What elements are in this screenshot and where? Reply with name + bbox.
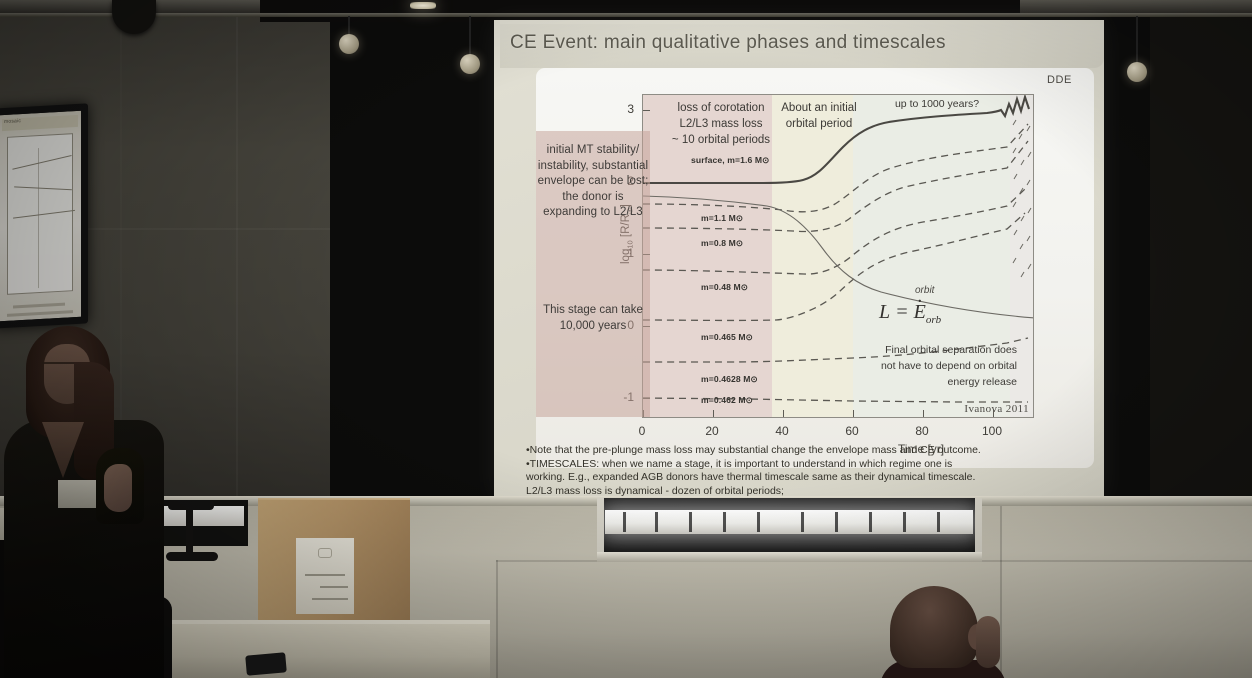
x-tick-label: 100 (982, 424, 1002, 438)
window-sill (597, 552, 982, 562)
x-tick-label: 20 (705, 424, 718, 438)
sign-logo-icon (318, 548, 332, 558)
bullet-3: working. E.g., expanded AGB donors have … (526, 471, 1098, 485)
curve-label-m11: m=1.1 M⊙ (701, 213, 743, 224)
y-tick (643, 110, 650, 111)
side-note-text-1: initial MT stability/ instability, subst… (536, 143, 650, 221)
annotation-final-sep-2: not have to depend on orbital (849, 359, 1017, 373)
y-tick-label: 3 (614, 102, 634, 116)
pendant-cord (1136, 16, 1138, 66)
curve-label-m08: m=0.8 M⊙ (701, 238, 743, 249)
annotation-final-sep-1: Final orbital separation does (853, 343, 1017, 357)
x-tick (713, 410, 714, 417)
annotation-loss-corotation-3: ~ 10 orbital periods (657, 133, 785, 148)
audience-member (880, 586, 1010, 678)
side-note-panel: initial MT stability/ instability, subst… (536, 131, 650, 417)
bullet-1: •Note that the pre-plunge mass loss may … (526, 444, 1098, 458)
wall-seam (236, 0, 238, 500)
aux-plot (7, 133, 73, 295)
presenter-hand (104, 464, 132, 512)
aux-curve (8, 134, 72, 294)
presenter-name-badge (58, 480, 98, 508)
curve-label-m04628: m=0.4628 M⊙ (701, 374, 758, 385)
lecture-room-scene: mosaic CE Event: main qualitative phases… (0, 0, 1252, 678)
pendant-light-icon (460, 54, 480, 74)
x-tick-label: 80 (915, 424, 928, 438)
stool-base (166, 552, 218, 561)
phone-on-table (245, 652, 287, 675)
chart-plot-area: surface, m=1.6 M⊙ m=1.1 M⊙ m=0.8 M⊙ m=0.… (642, 94, 1034, 418)
secondary-display-content: mosaic (0, 111, 81, 322)
x-tick-label: 40 (775, 424, 788, 438)
x-tick-label: 60 (845, 424, 858, 438)
chart-inner: surface, m=1.6 M⊙ m=1.1 M⊙ m=0.8 M⊙ m=0.… (643, 95, 1033, 417)
cabinet-seam (496, 560, 498, 678)
aux-caption (13, 303, 65, 309)
ceiling-track (0, 13, 1252, 17)
window-behind-screen (597, 498, 982, 558)
curve-m-048 (643, 189, 1025, 274)
curve-label-m048: m=0.48 M⊙ (701, 282, 748, 293)
pendant-light-icon (339, 34, 359, 54)
chart-credit: Ivanova 2011 (964, 403, 1029, 415)
pendant-light-icon (1127, 62, 1147, 82)
ceiling-recess (260, 0, 1020, 22)
side-note-text-2: This stage can take 10,000 years (536, 303, 650, 334)
curve-m-0465 (643, 213, 1025, 320)
dde-corner-label: DDE (1047, 74, 1072, 86)
annotation-final-sep-3: energy release (849, 375, 1017, 389)
audience-hand (976, 616, 1000, 668)
x-tick (993, 410, 994, 417)
annotation-spiral-in-2: up to 1000 years? (869, 97, 1005, 111)
aux-caption (7, 310, 73, 317)
annotation-plunge-in-2: About an initial (765, 101, 873, 116)
x-tick (923, 410, 924, 417)
curve-label-m0465: m=0.465 M⊙ (701, 332, 753, 343)
projected-slide: CE Event: main qualitative phases and ti… (494, 20, 1104, 498)
ceiling-light-icon (410, 2, 436, 9)
window-frame (597, 498, 604, 558)
audience-head (890, 586, 978, 668)
slide-bullets: •Note that the pre-plunge mass loss may … (526, 444, 1098, 498)
pendant-cord (469, 16, 471, 58)
lectern-sign (296, 538, 354, 614)
x-tick-label: 0 (639, 424, 646, 438)
front-table (160, 624, 490, 678)
curve-label-surface: surface, m=1.6 M⊙ (691, 155, 769, 166)
secondary-display[interactable]: mosaic (0, 103, 88, 328)
formula-luminosity-orbital: L = Eorb (879, 301, 941, 326)
annotation-plunge-in-3: orbital period (765, 117, 873, 132)
window-frame (975, 498, 982, 558)
window-glow (605, 510, 973, 534)
presenter (0, 322, 170, 678)
x-tick (853, 410, 854, 417)
aux-title-text: mosaic (4, 118, 21, 125)
curve-label-m0462: m=0.462 M⊙ (701, 395, 753, 406)
page-title: CE Event: main qualitative phases and ti… (510, 32, 946, 54)
right-wall-panel (1150, 0, 1252, 500)
stool-post (186, 508, 193, 556)
x-tick (783, 410, 784, 417)
bullet-2: •TIMESCALES: when we name a stage, it is… (526, 458, 1098, 472)
